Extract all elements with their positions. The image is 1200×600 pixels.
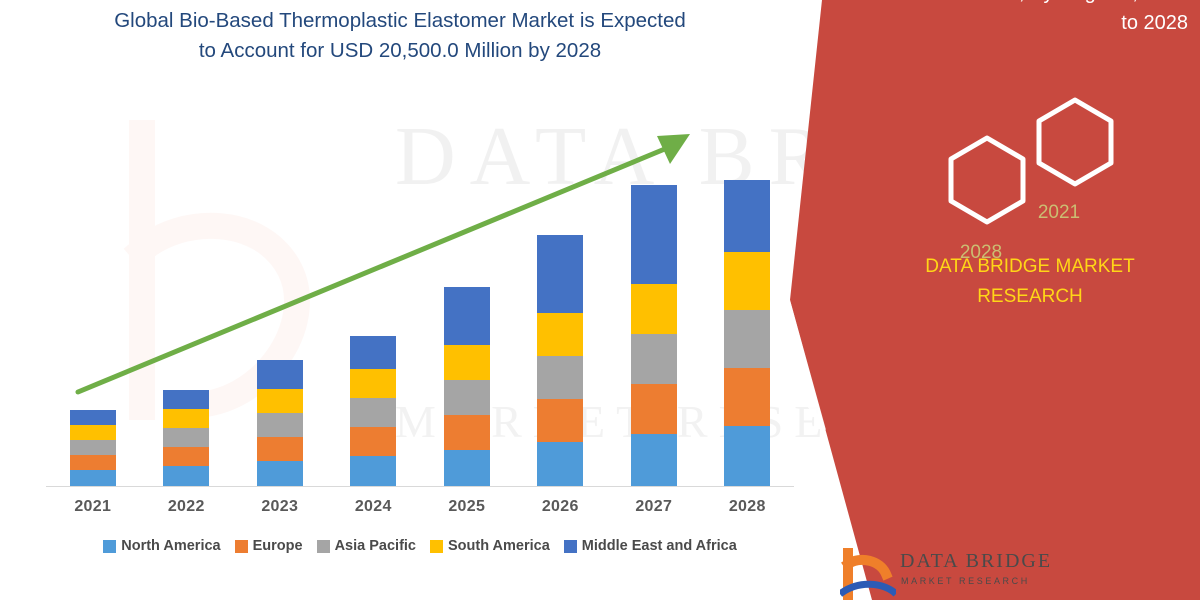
legend-label: Europe: [253, 538, 303, 554]
bar-segment[interactable]: [70, 470, 116, 486]
bar-segment[interactable]: [444, 415, 490, 450]
x-axis-label-2023: 2023: [233, 498, 327, 516]
stacked-bar-2023[interactable]: [257, 360, 303, 486]
logo-wordmark: DATA BRIDGE: [900, 550, 1052, 573]
bar-slot: [607, 100, 701, 486]
x-axis-label-2028: 2028: [701, 498, 795, 516]
stacked-bar-2028[interactable]: [724, 180, 770, 486]
bar-segment[interactable]: [537, 356, 583, 399]
bar-slot: [233, 100, 327, 486]
bar-segment[interactable]: [70, 410, 116, 425]
bar-segment[interactable]: [444, 450, 490, 486]
bar-segment[interactable]: [631, 384, 677, 434]
stacked-bar-2025[interactable]: [444, 287, 490, 486]
bar-segment[interactable]: [631, 284, 677, 334]
bar-segment[interactable]: [537, 235, 583, 313]
x-axis-label-2022: 2022: [140, 498, 234, 516]
bar-segment[interactable]: [257, 461, 303, 486]
stacked-bar-2024[interactable]: [350, 336, 396, 486]
bar-segment[interactable]: [163, 409, 209, 428]
legend-item[interactable]: North America: [103, 538, 220, 554]
panel-brand-line-2: RESEARCH: [880, 282, 1180, 312]
data-bridge-logo: DATA BRIDGE MARKET RESEARCH: [840, 548, 1200, 600]
panel-title-line-1: Elastomer Market, By Regions, 2021: [836, 0, 1188, 8]
bar-segment[interactable]: [257, 389, 303, 413]
legend-label: Middle East and Africa: [582, 538, 737, 554]
bar-segment[interactable]: [70, 425, 116, 440]
bar-segment[interactable]: [724, 252, 770, 310]
bar-slot: [140, 100, 234, 486]
x-axis-label-2024: 2024: [327, 498, 421, 516]
stacked-bar-2027[interactable]: [631, 185, 677, 486]
legend-swatch-icon: [103, 540, 116, 553]
bar-segment[interactable]: [257, 437, 303, 461]
legend-item[interactable]: Middle East and Africa: [564, 538, 737, 554]
bar-segment[interactable]: [257, 413, 303, 437]
bar-slot: [46, 100, 140, 486]
bar-segment[interactable]: [350, 398, 396, 427]
bar-segment[interactable]: [631, 185, 677, 284]
bar-segment[interactable]: [631, 434, 677, 486]
stacked-bar-chart: 20212022202320242025202620272028 North A…: [40, 0, 800, 600]
chart-legend: North AmericaEuropeAsia PacificSouth Ame…: [46, 538, 794, 554]
bar-segment[interactable]: [70, 440, 116, 455]
hexagon-year-badges: 2021 2028: [925, 80, 1135, 230]
bar-segment[interactable]: [724, 180, 770, 252]
panel-brand-line-1: DATA BRIDGE MARKET: [880, 252, 1180, 282]
bar-segment[interactable]: [163, 466, 209, 486]
bar-segment[interactable]: [724, 310, 770, 368]
x-axis-label-2025: 2025: [420, 498, 514, 516]
bar-segment[interactable]: [350, 427, 396, 456]
bar-segment[interactable]: [537, 313, 583, 356]
legend-item[interactable]: Asia Pacific: [317, 538, 416, 554]
infographic-canvas: DATA BRIDGE MARKET RESEARCH Elastomer Ma…: [0, 0, 1200, 600]
panel-brand-name: DATA BRIDGE MARKET RESEARCH: [880, 252, 1180, 312]
legend-swatch-icon: [235, 540, 248, 553]
bar-group: [46, 100, 794, 486]
bar-segment[interactable]: [724, 426, 770, 486]
legend-label: Asia Pacific: [335, 538, 416, 554]
x-axis-label-2027: 2027: [607, 498, 701, 516]
hex-label-start-year: 2021: [1021, 202, 1097, 224]
bar-segment[interactable]: [537, 399, 583, 442]
bar-segment[interactable]: [444, 287, 490, 345]
bar-segment[interactable]: [257, 360, 303, 389]
x-axis-label-2026: 2026: [514, 498, 608, 516]
bar-segment[interactable]: [70, 455, 116, 470]
bar-segment[interactable]: [537, 442, 583, 486]
bar-segment[interactable]: [444, 380, 490, 415]
bar-segment[interactable]: [163, 390, 209, 409]
legend-swatch-icon: [317, 540, 330, 553]
legend-item[interactable]: South America: [430, 538, 550, 554]
stacked-bar-2026[interactable]: [537, 235, 583, 486]
legend-label: North America: [121, 538, 220, 554]
bar-segment[interactable]: [350, 369, 396, 398]
bar-slot: [420, 100, 514, 486]
bar-slot: [514, 100, 608, 486]
bar-segment[interactable]: [631, 334, 677, 384]
x-axis-line: [46, 486, 794, 487]
legend-label: South America: [448, 538, 550, 554]
bar-segment[interactable]: [444, 345, 490, 380]
legend-swatch-icon: [564, 540, 577, 553]
panel-title-line-2: to 2028: [836, 8, 1188, 38]
legend-swatch-icon: [430, 540, 443, 553]
bar-segment[interactable]: [724, 368, 770, 426]
panel-title: Elastomer Market, By Regions, 2021 to 20…: [836, 0, 1188, 38]
bar-slot: [701, 100, 795, 486]
bar-segment[interactable]: [350, 456, 396, 486]
logo-mark-icon: [840, 548, 896, 600]
bar-segment[interactable]: [163, 428, 209, 447]
x-axis-label-2021: 2021: [46, 498, 140, 516]
bar-segment[interactable]: [163, 447, 209, 466]
legend-item[interactable]: Europe: [235, 538, 303, 554]
x-axis-labels: 20212022202320242025202620272028: [46, 498, 794, 516]
bar-segment[interactable]: [350, 336, 396, 369]
logo-tagline: MARKET RESEARCH: [901, 576, 1030, 586]
stacked-bar-2021[interactable]: [70, 410, 116, 486]
bar-slot: [327, 100, 421, 486]
stacked-bar-2022[interactable]: [163, 390, 209, 486]
